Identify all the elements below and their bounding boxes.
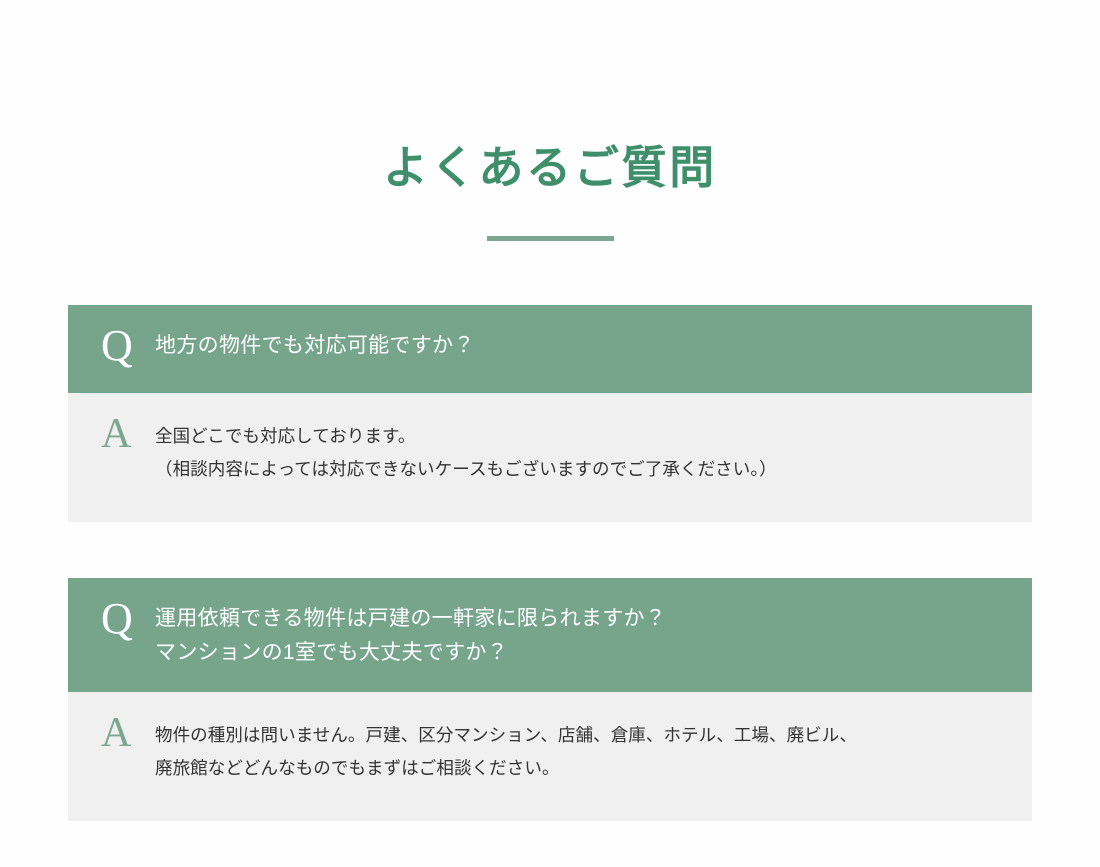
faq-answer-line: 廃旅館などどんなものでもまずはご相談ください。 xyxy=(155,752,857,785)
section-header: よくあるご質問 xyxy=(0,140,1100,241)
faq-question-bar[interactable]: Q 運用依頼できる物件は戸建の一軒家に限られますか？ マンションの1室でも大丈夫… xyxy=(68,578,1032,692)
faq-answer-text: 全国どこでも対応しております。 （相談内容によっては対応できないケースもございま… xyxy=(155,415,777,487)
answer-marker-icon: A xyxy=(94,712,155,754)
faq-answer-panel: A 物件の種別は問いません。戸建、区分マンション、店舗、倉庫、ホテル、工場、廃ビ… xyxy=(68,692,1032,821)
faq-answer-line: （相談内容によっては対応できないケースもございますのでご了承ください。） xyxy=(155,453,777,486)
faq-question-line: 地方の物件でも対応可能ですか？ xyxy=(155,329,475,363)
question-marker-icon: Q xyxy=(94,597,155,641)
answer-marker-icon: A xyxy=(94,413,155,455)
faq-page: よくあるご質問 Q 地方の物件でも対応可能ですか？ A 全国どこでも対応しており… xyxy=(0,0,1100,867)
faq-question-line: マンションの1室でも大丈夫ですか？ xyxy=(155,636,666,670)
faq-question-line: 運用依頼できる物件は戸建の一軒家に限られますか？ xyxy=(155,602,666,636)
faq-answer-line: 物件の種別は問いません。戸建、区分マンション、店舗、倉庫、ホテル、工場、廃ビル、 xyxy=(155,719,857,752)
faq-item: Q 地方の物件でも対応可能ですか？ A 全国どこでも対応しております。 （相談内… xyxy=(68,305,1032,522)
title-underline xyxy=(487,236,614,241)
faq-question-bar[interactable]: Q 地方の物件でも対応可能ですか？ xyxy=(68,305,1032,393)
faq-answer-line: 全国どこでも対応しております。 xyxy=(155,420,777,453)
faq-question-text: 地方の物件でも対応可能ですか？ xyxy=(155,327,475,363)
faq-answer-text: 物件の種別は問いません。戸建、区分マンション、店舗、倉庫、ホテル、工場、廃ビル、… xyxy=(155,714,857,786)
question-marker-icon: Q xyxy=(94,324,155,368)
faq-question-text: 運用依頼できる物件は戸建の一軒家に限られますか？ マンションの1室でも大丈夫です… xyxy=(155,600,666,670)
page-title: よくあるご質問 xyxy=(0,140,1100,196)
faq-list: Q 地方の物件でも対応可能ですか？ A 全国どこでも対応しております。 （相談内… xyxy=(68,305,1032,821)
faq-item: Q 運用依頼できる物件は戸建の一軒家に限られますか？ マンションの1室でも大丈夫… xyxy=(68,578,1032,821)
faq-answer-panel: A 全国どこでも対応しております。 （相談内容によっては対応できないケースもござ… xyxy=(68,393,1032,522)
